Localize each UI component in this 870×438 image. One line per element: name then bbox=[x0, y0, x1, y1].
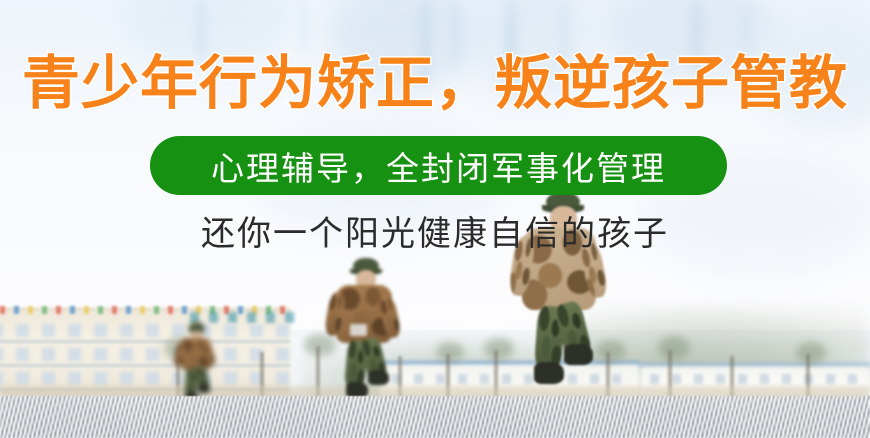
tree-canopy bbox=[436, 342, 464, 362]
highlight-pill: 心理辅导，全封闭军事化管理 bbox=[150, 136, 727, 195]
cloud-streak bbox=[300, 0, 308, 52]
cloud-streak bbox=[742, 0, 751, 58]
distant-runner bbox=[172, 322, 218, 404]
promo-banner: 青少年行为矫正，叛逆孩子管教 心理辅导，全封闭军事化管理 还你一个阳光健康自信的… bbox=[0, 0, 870, 438]
tree-canopy bbox=[484, 338, 514, 360]
tree-canopy bbox=[658, 336, 690, 360]
tree-canopy bbox=[796, 342, 826, 364]
window-row bbox=[0, 348, 290, 361]
balcony-rail bbox=[0, 340, 290, 343]
gravel-ground bbox=[0, 396, 870, 438]
window-row bbox=[0, 372, 290, 385]
middle-runner bbox=[326, 258, 404, 404]
balcony-rail bbox=[0, 364, 290, 367]
tagline: 还你一个阳光健康自信的孩子 bbox=[0, 212, 870, 256]
name-badge bbox=[350, 324, 367, 336]
window-row bbox=[650, 374, 860, 384]
highlight-pill-label: 心理辅导，全封闭军事化管理 bbox=[211, 142, 666, 190]
window-row bbox=[0, 324, 290, 337]
page-title: 青少年行为矫正，叛逆孩子管教 bbox=[0, 52, 870, 116]
